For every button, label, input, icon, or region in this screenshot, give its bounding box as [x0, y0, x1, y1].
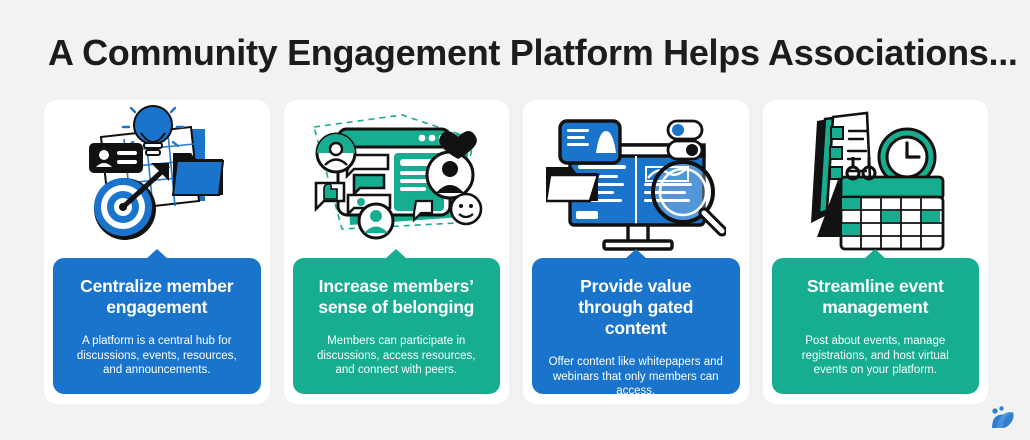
lightbulb-target-folder-illustration — [44, 100, 270, 252]
panel-notch — [625, 249, 647, 259]
card-title: Centralize member engagement — [67, 276, 247, 318]
card-body: Offer content like whitepapers and webin… — [546, 355, 726, 399]
card-panel: Increase members’ sense of belonging Mem… — [293, 258, 501, 394]
panel-notch — [385, 249, 407, 259]
card-title: Increase members’ sense of belonging — [307, 276, 487, 318]
page-title: A Community Engagement Platform Helps As… — [48, 32, 1018, 74]
card-list: Centralize member engagement A platform … — [44, 100, 988, 404]
card-title: Streamline event management — [786, 276, 966, 318]
card-panel: Provide value through gated content Offe… — [532, 258, 740, 394]
card-streamline-event-management[interactable]: Streamline event management Post about e… — [763, 100, 989, 404]
card-panel: Centralize member engagement A platform … — [53, 258, 261, 394]
chat-community-avatars-illustration — [284, 100, 510, 252]
panel-notch — [146, 249, 168, 259]
brand-leaf-logo — [986, 402, 1016, 432]
panel-notch — [864, 249, 886, 259]
monitor-magnifier-gated-content-illustration — [523, 100, 749, 252]
card-title: Provide value through gated content — [546, 276, 726, 339]
calendar-clock-documents-illustration — [763, 100, 989, 252]
card-body: A platform is a central hub for discussi… — [67, 334, 247, 378]
card-body: Post about events, manage registrations,… — [786, 334, 966, 378]
card-increase-sense-of-belonging[interactable]: Increase members’ sense of belonging Mem… — [284, 100, 510, 404]
card-provide-value-gated-content[interactable]: Provide value through gated content Offe… — [523, 100, 749, 404]
card-body: Members can participate in discussions, … — [307, 334, 487, 378]
card-centralize-member-engagement[interactable]: Centralize member engagement A platform … — [44, 100, 270, 404]
infographic-page: A Community Engagement Platform Helps As… — [0, 0, 1030, 440]
card-panel: Streamline event management Post about e… — [772, 258, 980, 394]
